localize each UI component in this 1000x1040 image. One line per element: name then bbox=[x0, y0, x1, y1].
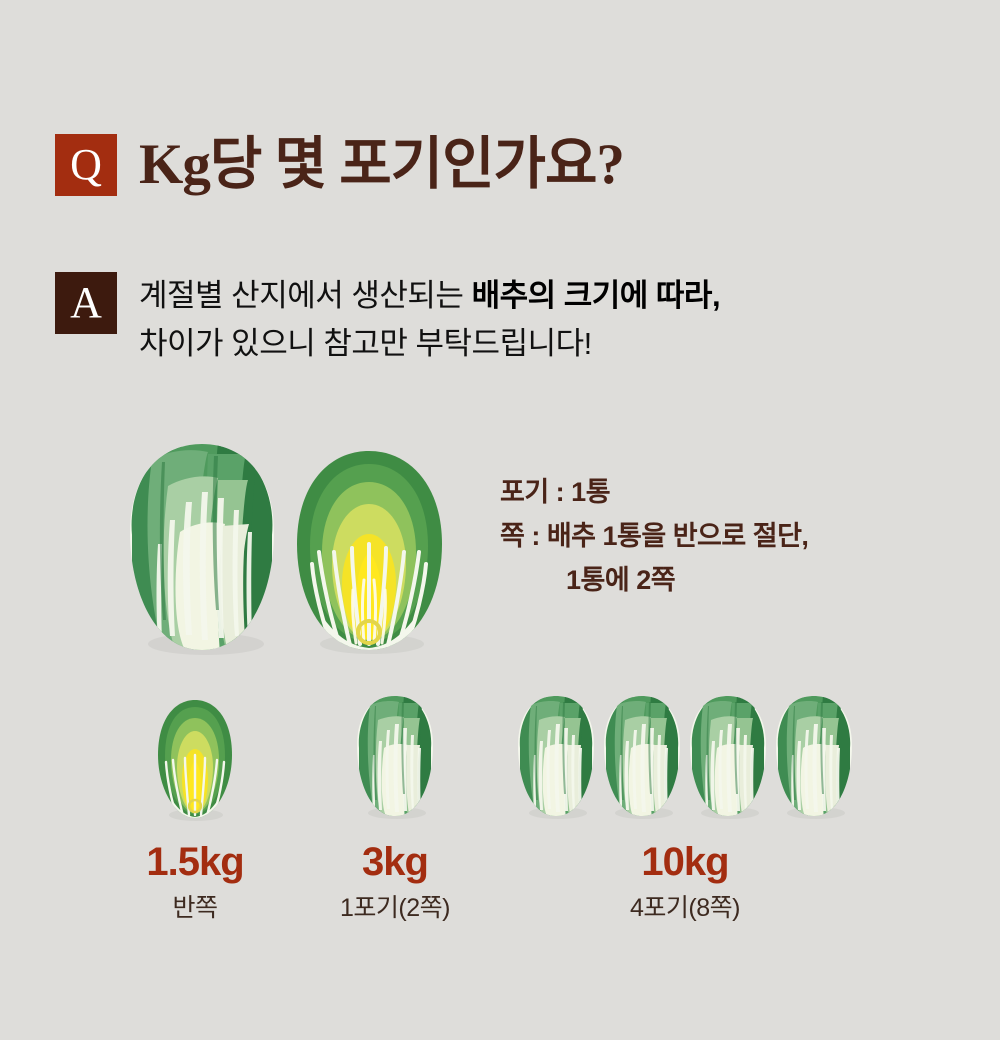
weight-group-1-5kg: 1.5kg 반쪽 bbox=[120, 690, 270, 921]
cabbage-row bbox=[120, 690, 270, 820]
page-title: Kg당 몇 포기인가요? bbox=[139, 134, 624, 196]
legend-line-jjok: 쪽 : 배추 1통을 반으로 절단, bbox=[500, 514, 808, 558]
portion-label: 반쪽 bbox=[120, 896, 270, 921]
answer-badge: A bbox=[55, 272, 117, 334]
question-block: Q Kg당 몇 포기인가요? bbox=[55, 134, 624, 196]
whole-cabbage-small-icon bbox=[602, 694, 682, 820]
weight-group-10kg: 10kg 4포기(8쪽) bbox=[490, 690, 880, 921]
cabbage-row bbox=[490, 690, 880, 820]
cabbage-row bbox=[320, 690, 470, 820]
whole-cabbage-small-icon bbox=[688, 694, 768, 820]
weight-label: 10kg bbox=[490, 842, 880, 882]
answer-line2: 차이가 있으니 참고만 부탁드립니다! bbox=[139, 326, 592, 361]
legend-line-pogi: 포기 : 1통 bbox=[500, 470, 808, 514]
cut-cabbage-illustration bbox=[292, 448, 447, 653]
portion-label: 1포기(2쪽) bbox=[320, 896, 470, 921]
whole-cabbage-small-icon bbox=[355, 694, 435, 820]
answer-line1-emphasis: 배추의 크기에 따라, bbox=[472, 278, 721, 313]
answer-line1-prefix: 계절별 산지에서 생산되는 bbox=[139, 278, 472, 313]
whole-cabbage-small-icon bbox=[516, 694, 596, 820]
weight-label: 3kg bbox=[320, 842, 470, 882]
weight-group-3kg: 3kg 1포기(2쪽) bbox=[320, 690, 470, 921]
answer-block: A 계절별 산지에서 생산되는 배추의 크기에 따라, 차이가 있으니 참고만 … bbox=[55, 272, 720, 368]
answer-text: 계절별 산지에서 생산되는 배추의 크기에 따라, 차이가 있으니 참고만 부탁… bbox=[139, 272, 720, 368]
whole-cabbage-small-icon bbox=[774, 694, 854, 820]
weight-label: 1.5kg bbox=[120, 842, 270, 882]
portion-label: 4포기(8쪽) bbox=[490, 896, 880, 921]
question-badge: Q bbox=[55, 134, 117, 196]
whole-cabbage-illustration bbox=[122, 440, 282, 655]
infographic-page: Q Kg당 몇 포기인가요? A 계절별 산지에서 생산되는 배추의 크기에 따… bbox=[0, 0, 1000, 1040]
legend-line-jjok-cont: 1통에 2쪽 bbox=[500, 558, 808, 602]
cut-cabbage-small-icon bbox=[156, 698, 234, 820]
legend: 포기 : 1통 쪽 : 배추 1통을 반으로 절단, 1통에 2쪽 bbox=[500, 470, 808, 602]
